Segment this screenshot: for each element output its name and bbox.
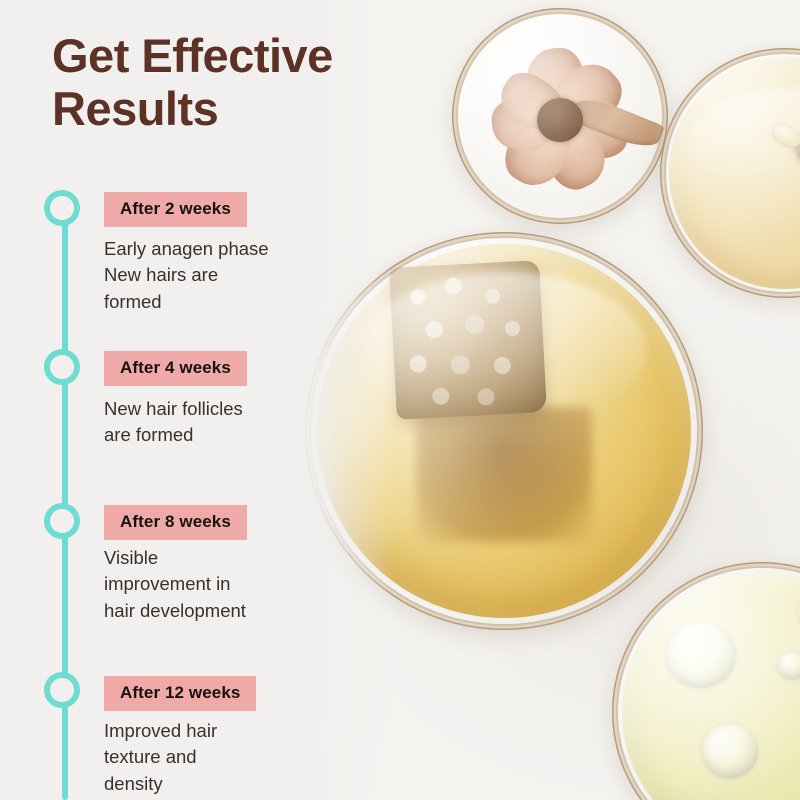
timeline-badge: After 8 weeks <box>104 505 247 540</box>
timeline-badge: After 2 weeks <box>104 192 247 227</box>
timeline-marker-icon <box>44 349 80 385</box>
timeline-marker-icon <box>44 190 80 226</box>
timeline-marker-icon <box>44 672 80 708</box>
content-layer: Get Effective Results After 2 weeks Earl… <box>0 0 800 800</box>
timeline-description: Improved hair texture and density <box>104 718 217 797</box>
timeline-badge: After 12 weeks <box>104 676 256 711</box>
infographic-canvas: Get Effective Results After 2 weeks Earl… <box>0 0 800 800</box>
timeline-description: New hair follicles are formed <box>104 396 243 449</box>
timeline-description: Early anagen phase New hairs are formed <box>104 236 269 315</box>
results-timeline: After 2 weeks Early anagen phase New hai… <box>0 0 300 800</box>
timeline-description: Visible improvement in hair development <box>104 545 246 624</box>
timeline-badge: After 4 weeks <box>104 351 247 386</box>
timeline-marker-icon <box>44 503 80 539</box>
